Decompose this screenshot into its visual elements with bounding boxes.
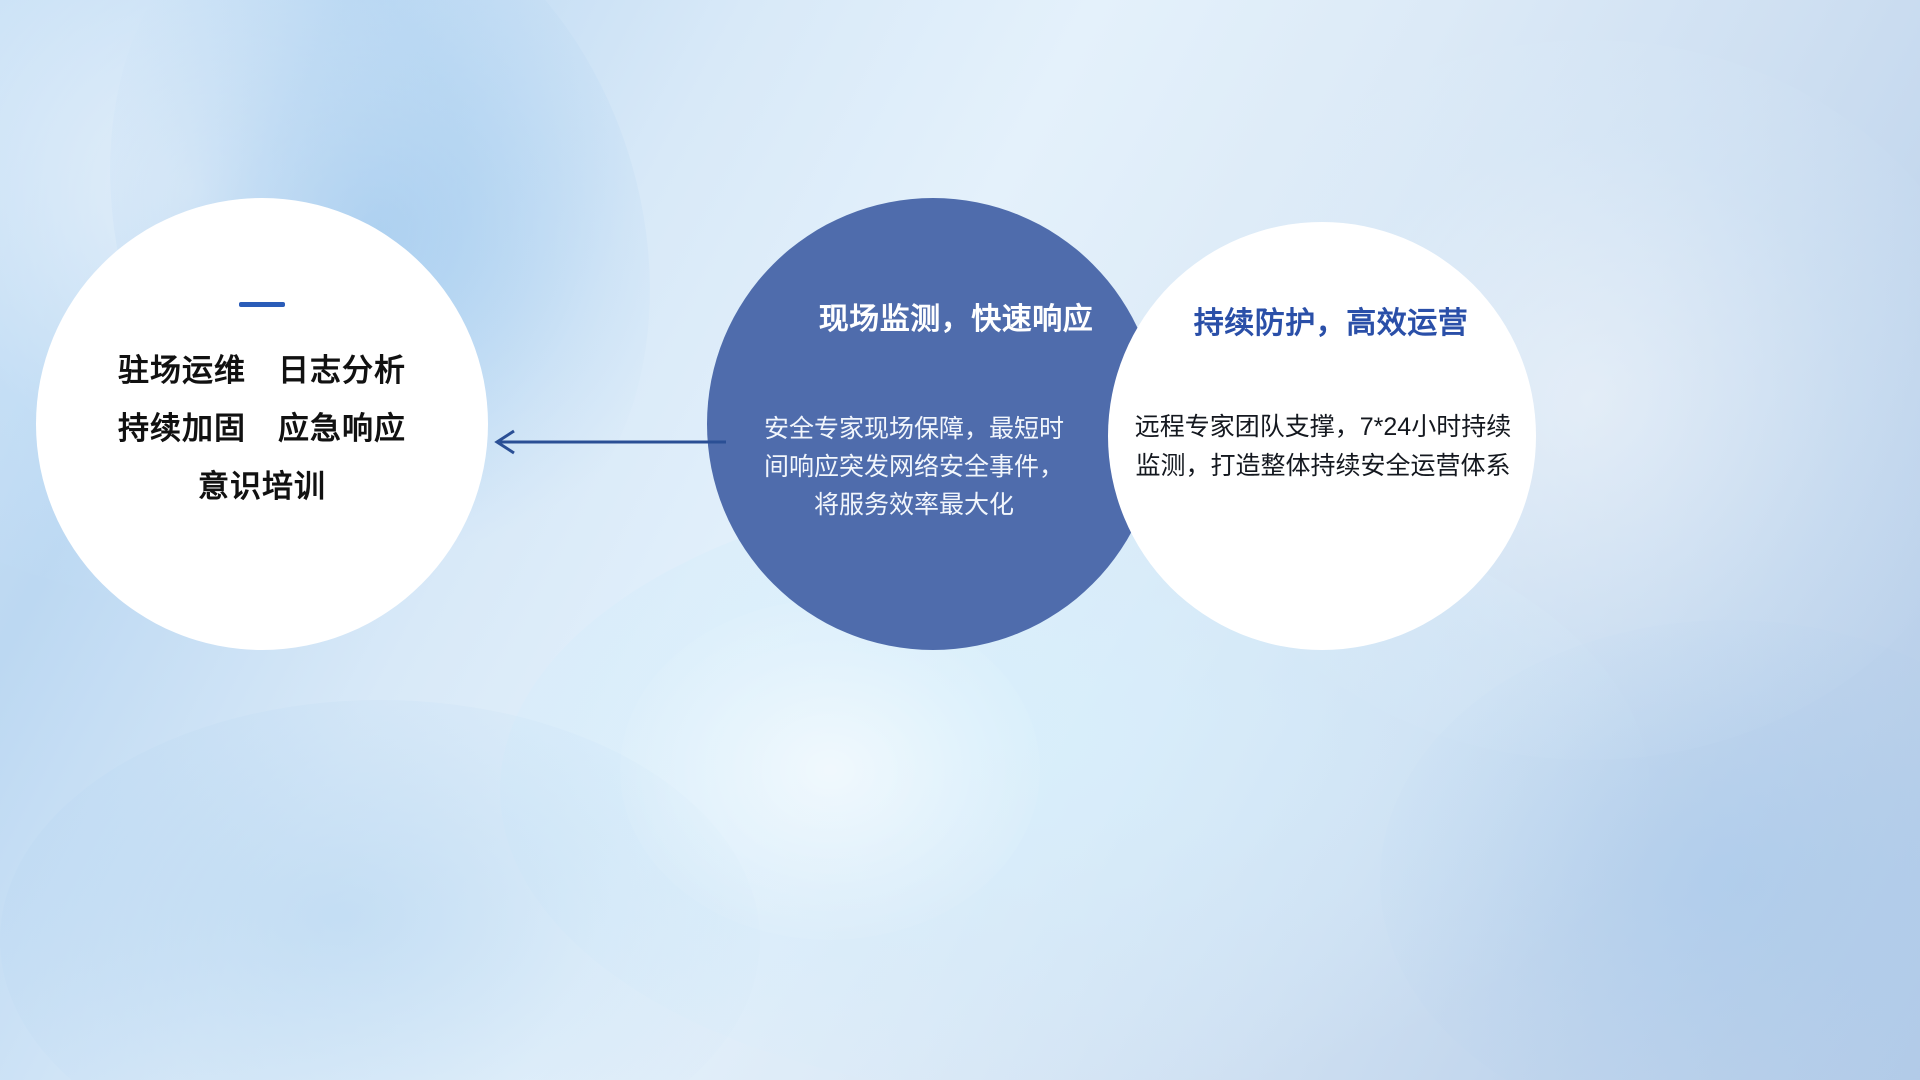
skills-line-2: 持续加固 应急响应 — [36, 413, 488, 444]
background-bloom-bottom-left — [0, 700, 760, 1080]
continuous-body-text: 远程专家团队支撑，7*24小时持续监测，打造整体持续安全运营体系 — [1130, 408, 1516, 486]
continuous-title: 持续防护，高效运营 — [1134, 298, 1528, 342]
arrow-left-icon — [488, 418, 728, 466]
skills-content: 驻场运维 日志分析 持续加固 应急响应 意识培训 — [36, 302, 488, 502]
background-bloom-center-glow — [620, 600, 1040, 940]
slide-canvas: 驻场运维 日志分析 持续加固 应急响应 意识培训 现场监测，快速响应 安全专家现… — [0, 0, 1920, 1080]
continuous-content: 持续防护，高效运营 远程专家团队支撑，7*24小时持续监测，打造整体持续安全运营… — [1108, 222, 1536, 650]
accent-rule-divider — [239, 302, 285, 307]
background-bloom-bottom-right — [1380, 620, 1920, 1080]
onsite-title: 现场监测，快速响应 — [707, 294, 1159, 338]
onsite-body-text: 安全专家现场保障，最短时间响应突发网络安全事件，将服务效率最大化 — [759, 410, 1069, 524]
onsite-content: 现场监测，快速响应 安全专家现场保障，最短时间响应突发网络安全事件，将服务效率最… — [707, 198, 1159, 650]
continuous-protection-circle: 持续防护，高效运营 远程专家团队支撑，7*24小时持续监测，打造整体持续安全运营… — [1108, 222, 1536, 650]
onsite-monitoring-circle: 现场监测，快速响应 安全专家现场保障，最短时间响应突发网络安全事件，将服务效率最… — [707, 198, 1159, 650]
skills-circle: 驻场运维 日志分析 持续加固 应急响应 意识培训 — [36, 198, 488, 650]
skills-line-1: 驻场运维 日志分析 — [36, 355, 488, 386]
skills-line-3: 意识培训 — [36, 471, 488, 502]
